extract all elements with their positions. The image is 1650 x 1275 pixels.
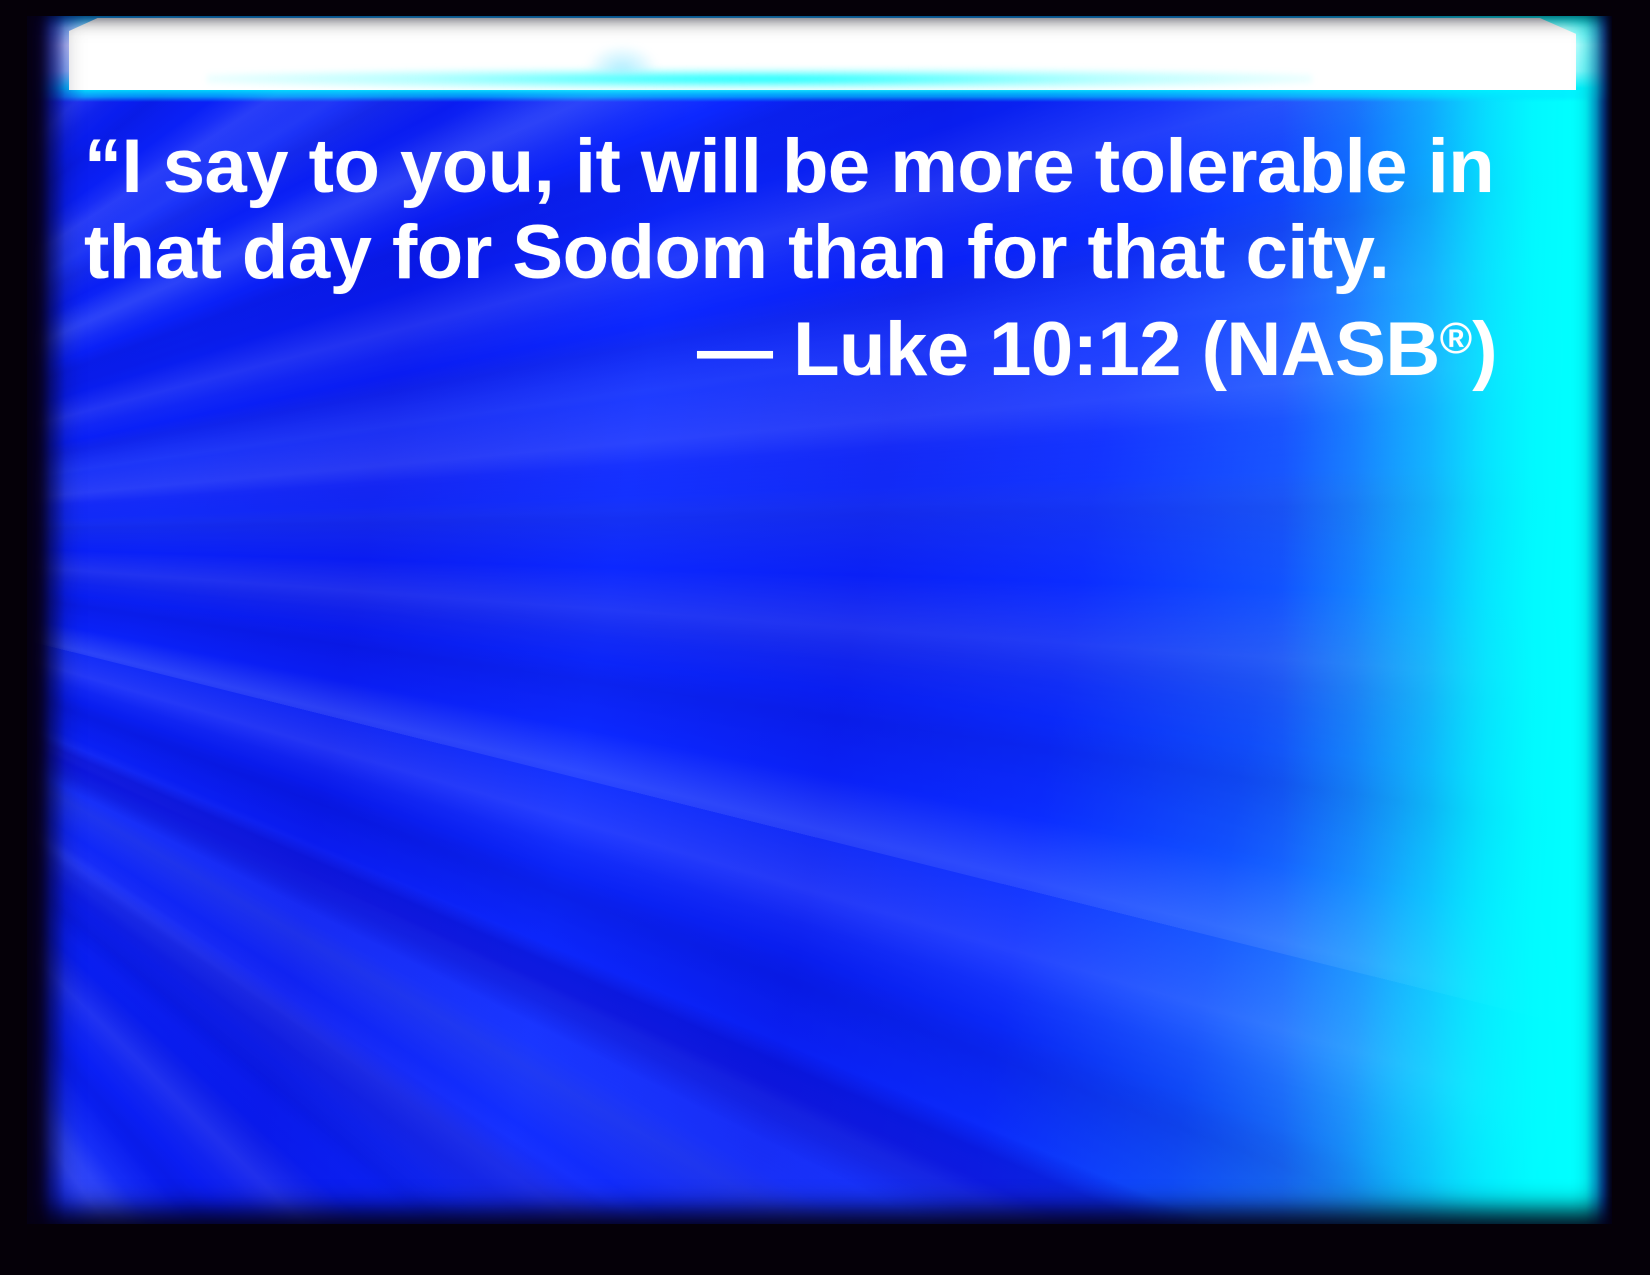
attribution-prefix: — Luke 10:12 (NASB [697, 307, 1440, 392]
cyan-edge-falloff [1586, 16, 1612, 1224]
registered-trademark-icon: ® [1440, 314, 1472, 363]
verse-attribution-line: — Luke 10:12 (NASB®) [0, 296, 1497, 393]
top-highlight-band [27, 16, 1612, 116]
left-edge-shading [27, 16, 65, 1224]
top-band-notch [587, 46, 657, 72]
verse-slide: “I say to you, it will be more tolerable… [0, 0, 1650, 1275]
verse-line-2: that day for Sodom than for that city. [84, 210, 1389, 296]
verse-line-1: “I say to you, it will be more tolerable… [84, 124, 1494, 210]
top-band-sheen [207, 68, 1312, 90]
attribution-suffix: ) [1472, 307, 1497, 392]
